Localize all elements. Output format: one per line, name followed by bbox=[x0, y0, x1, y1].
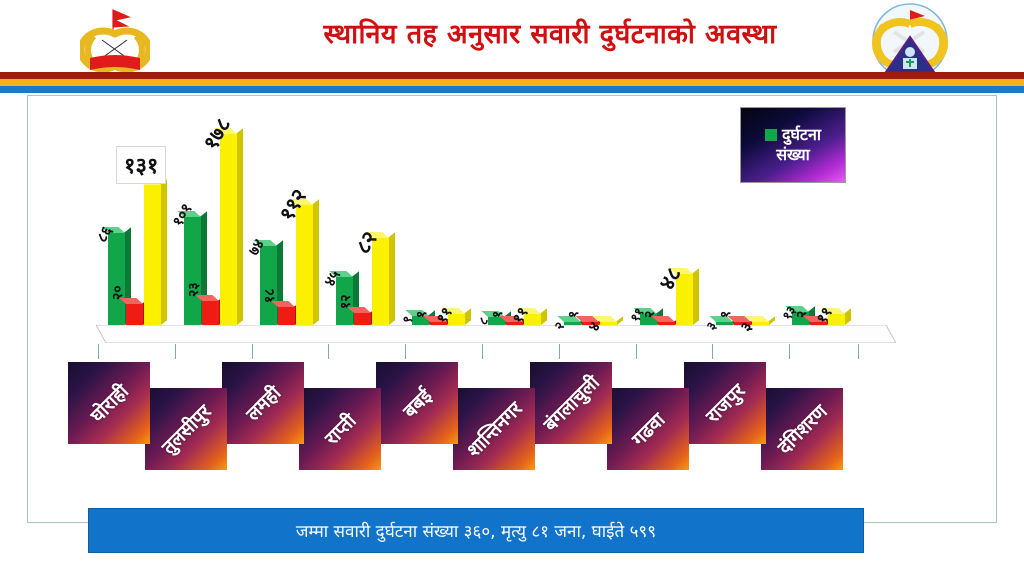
legend-swatch-icon bbox=[765, 129, 777, 141]
bar-deaths-lamahi bbox=[278, 306, 295, 325]
bar-injured-banglachuli bbox=[600, 321, 617, 325]
category-label-lamahi: लमही bbox=[222, 362, 304, 444]
category-label-text: लमही bbox=[240, 380, 286, 426]
value-label-injured-ghorahi: १३१ bbox=[116, 146, 166, 184]
axis-tick bbox=[252, 344, 253, 359]
legend-label-line1: दुर्घटना bbox=[782, 125, 821, 145]
value-label-deaths-babai: १ bbox=[412, 311, 431, 318]
bar-side bbox=[617, 316, 623, 325]
value-label-deaths-dangisharan: २ bbox=[792, 311, 811, 318]
category-label-text: राजपुर bbox=[700, 378, 750, 428]
bar-accidents-tulsipur bbox=[184, 216, 201, 325]
category-label-rapti: राप्ती bbox=[299, 388, 381, 470]
legend-entry-accidents: दुर्घटना bbox=[765, 125, 821, 145]
axis-tick bbox=[328, 344, 329, 359]
category-label-banglachuli: बंगलाचुली bbox=[530, 362, 612, 444]
category-label-text: तुलसीपुर bbox=[156, 399, 217, 460]
category-label-dangisharan: दंगिशरण bbox=[761, 388, 843, 470]
stripe-red bbox=[0, 72, 1024, 79]
chart-legend: दुर्घटना संख्या bbox=[740, 107, 846, 183]
bar-accidents-banglachuli bbox=[564, 321, 581, 325]
value-label-deaths-banglachuli: १ bbox=[564, 311, 583, 318]
legend-label-line2: संख्या bbox=[776, 145, 810, 165]
category-label-text: गढवा bbox=[626, 407, 670, 451]
axis-tick bbox=[858, 344, 859, 359]
axis-tick bbox=[712, 344, 713, 359]
axis-tick bbox=[636, 344, 637, 359]
bar-side bbox=[161, 179, 167, 325]
axis-tick bbox=[789, 344, 790, 359]
category-label-text: राप्ती bbox=[319, 408, 362, 451]
bar-face bbox=[184, 216, 201, 325]
stripe-yellow bbox=[0, 79, 1024, 86]
slide-root: स्थानिय तह अनुसार सवारी दुर्घटनाको अवस्थ… bbox=[0, 0, 1024, 581]
stripe-blue bbox=[0, 86, 1024, 93]
bar-accidents-lamahi bbox=[260, 245, 277, 325]
category-label-gadhawa: गढवा bbox=[607, 388, 689, 470]
bar-face bbox=[278, 306, 295, 325]
chart-container: ८६२०१३११०१२३१७८७४१८११२४५१२८२९१११८१११२१४१… bbox=[27, 95, 997, 523]
bar-face bbox=[260, 245, 277, 325]
category-label-tulsipur: तुलसीपुर bbox=[145, 388, 227, 470]
axis-tick bbox=[405, 344, 406, 359]
axis-tick bbox=[175, 344, 176, 359]
chart-floor bbox=[96, 325, 896, 343]
page-title: स्थानिय तह अनुसार सवारी दुर्घटनाको अवस्थ… bbox=[230, 14, 870, 56]
axis-tick bbox=[482, 344, 483, 359]
bar-side bbox=[237, 128, 243, 325]
axis-tick bbox=[559, 344, 560, 359]
category-label-shantinagar: शान्तिनगर bbox=[453, 388, 535, 470]
bar-side bbox=[769, 316, 775, 325]
bar-injured-tulsipur bbox=[220, 133, 237, 325]
category-label-text: घोराही bbox=[84, 378, 133, 427]
category-label-rajpur: राजपुर bbox=[684, 362, 766, 444]
bar-accidents-rajpur bbox=[716, 321, 733, 325]
bar-side bbox=[389, 232, 395, 325]
traffic-police-emblem bbox=[868, 2, 952, 80]
bar-injured-ghorahi bbox=[144, 184, 161, 325]
category-label-text: शान्तिनगर bbox=[461, 396, 528, 463]
bar-side bbox=[541, 308, 547, 325]
value-label-deaths-gadhawa: २ bbox=[640, 311, 659, 318]
category-label-ghorahi: घोराही bbox=[68, 362, 150, 444]
bar-injured-rajpur bbox=[752, 321, 769, 325]
bar-face bbox=[202, 300, 219, 325]
summary-banner: जम्मा सवारी दुर्घटना संख्या ३६०, मृत्यु … bbox=[88, 508, 864, 553]
bar-deaths-tulsipur bbox=[202, 300, 219, 325]
bar-deaths-gadhawa bbox=[658, 321, 675, 325]
bar-side bbox=[845, 308, 851, 325]
bar-deaths-ghorahi bbox=[126, 303, 143, 325]
category-label-text: बबई bbox=[397, 383, 437, 423]
bar-deaths-rapti bbox=[354, 312, 371, 325]
value-label-deaths-tulsipur: २३ bbox=[184, 282, 203, 297]
bar-face bbox=[220, 133, 237, 325]
bar-side bbox=[693, 268, 699, 325]
bar-side bbox=[465, 308, 471, 325]
bar-side bbox=[313, 199, 319, 325]
value-label-deaths-ghorahi: २० bbox=[108, 285, 127, 300]
value-label-deaths-rapti: १२ bbox=[336, 294, 355, 309]
category-label-text: दंगिशरण bbox=[772, 399, 833, 460]
bar-face bbox=[126, 303, 143, 325]
nepal-police-emblem bbox=[80, 6, 150, 72]
category-label-text: बंगलाचुली bbox=[537, 369, 604, 436]
tricolor-divider bbox=[0, 72, 1024, 93]
value-label-deaths-lamahi: १८ bbox=[260, 288, 279, 303]
bar-accidents-ghorahi bbox=[108, 232, 125, 325]
bar-face bbox=[108, 232, 125, 325]
value-label-deaths-rajpur: १ bbox=[716, 311, 735, 318]
category-label-babai: बबई bbox=[376, 362, 458, 444]
bar-face bbox=[354, 312, 371, 325]
bar-face bbox=[144, 184, 161, 325]
value-label-deaths-shantinagar: १ bbox=[488, 311, 507, 318]
axis-tick bbox=[98, 344, 99, 359]
header: स्थानिय तह अनुसार सवारी दुर्घटनाको अवस्थ… bbox=[0, 0, 1024, 72]
